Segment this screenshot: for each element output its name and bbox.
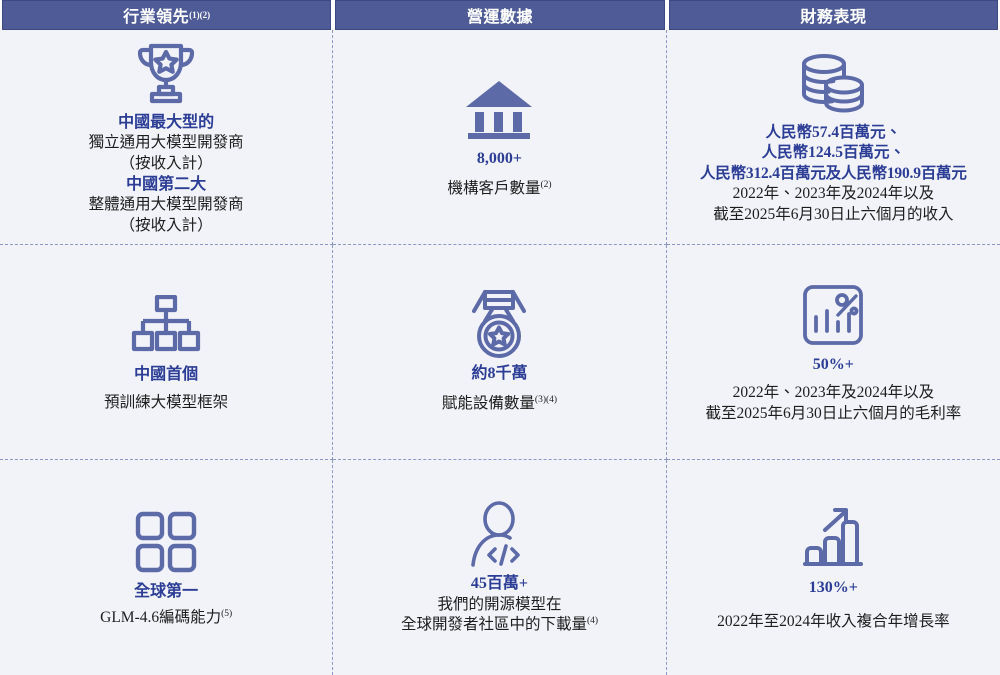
metrics-grid: 中國最大型的 獨立通用大模型開發商 （按收入計） 中國第二大 整體通用大模型開發…: [0, 30, 1000, 675]
metric-cell-enabled-devices: 約8千萬 賦能設備數量(3)(4): [333, 245, 666, 460]
trophy-star-icon: [132, 36, 200, 110]
column-header-footnote: (1)(2): [189, 10, 210, 20]
metric-highlight: 8,000+: [447, 148, 551, 169]
metric-footnote: (3)(4): [535, 395, 557, 405]
metric-description-line: （按收入計）: [89, 216, 244, 236]
metric-description-line: 2022年至2024年收入複合年增長率: [717, 612, 950, 632]
medal-star-icon: [467, 287, 531, 361]
column-header-label: 行業領先: [123, 3, 189, 27]
percent-chart-icon: [802, 278, 864, 352]
metric-description-line: 截至2025年6月30日止六個月的收入: [700, 205, 967, 225]
metric-description-line: 我們的開源模型在: [401, 595, 598, 615]
hierarchy-icon: [131, 288, 201, 362]
metric-description-line: 賦能設備數量: [442, 395, 535, 412]
metric-description-line: 獨立通用大模型開發商: [89, 133, 244, 153]
metric-description-line: 預訓練大模型框架: [104, 393, 228, 413]
metric-description-line: 2022年、2023年及2024年以及: [700, 184, 967, 204]
coins-stack-icon: [798, 47, 868, 121]
metric-description-line: 全球開發者社區中的下載量: [401, 616, 587, 633]
metric-cell-revenue-cagr: 130%+ 2022年至2024年收入複合年增長率: [667, 460, 1000, 675]
metric-highlight: 人民幣57.4百萬元、: [700, 123, 967, 143]
metric-highlight-secondary: 中國第二大: [89, 174, 244, 195]
grid-four-icon: [135, 505, 197, 579]
metric-description-line: 2022年、2023年及2024年以及: [705, 383, 961, 403]
metric-highlight-secondary: 人民幣124.5百萬元、: [700, 143, 967, 163]
metric-highlight: 約8千萬: [442, 363, 557, 384]
metric-description-line: （按收入計）: [89, 154, 244, 174]
growth-bar-chart-icon: [801, 501, 865, 575]
metric-description-line: 截至2025年6月30日止六個月的毛利率: [705, 404, 961, 424]
header-row: 行業領先(1)(2) 營運數據 財務表現: [0, 0, 1000, 30]
column-header-operating-data: 營運數據: [335, 0, 664, 30]
column-header-industry-leading: 行業領先(1)(2): [2, 0, 331, 30]
metric-highlight: 130%+: [717, 577, 950, 598]
metric-description-line: GLM-4.6編碼能力: [100, 609, 221, 626]
metric-cell-coding-ability: 全球第一 GLM-4.6編碼能力(5): [0, 460, 333, 675]
developer-code-icon: [468, 497, 530, 571]
metric-footnote: (2): [540, 180, 551, 190]
metric-cell-revenue: 人民幣57.4百萬元、 人民幣124.5百萬元、 人民幣312.4百萬元及人民幣…: [667, 30, 1000, 245]
metric-highlight-tertiary: 人民幣312.4百萬元及人民幣190.9百萬元: [700, 164, 967, 184]
column-header-financial-performance: 財務表現: [669, 0, 998, 30]
metric-description-line: 機構客戶數量: [447, 180, 540, 197]
metric-highlight: 中國首個: [104, 364, 228, 385]
metric-cell-downloads: 45百萬+ 我們的開源模型在 全球開發者社區中的下載量(4): [333, 460, 666, 675]
metric-cell-gross-margin: 50%+ 2022年、2023年及2024年以及 截至2025年6月30日止六個…: [667, 245, 1000, 460]
metric-cell-institutional-customers: 8,000+ 機構客戶數量(2): [333, 30, 666, 245]
metric-footnote: (4): [587, 616, 598, 626]
metric-cell-first-pretrained-framework: 中國首個 預訓練大模型框架: [0, 245, 333, 460]
highlights-board: 行業領先(1)(2) 營運數據 財務表現: [0, 0, 1000, 582]
column-header-label: 營運數據: [467, 3, 533, 27]
bank-building-icon: [464, 72, 534, 146]
metric-description-line: 整體通用大模型開發商: [89, 195, 244, 215]
metric-highlight: 全球第一: [100, 581, 232, 602]
metric-highlight: 50%+: [705, 354, 961, 375]
metric-footnote: (5): [221, 609, 232, 619]
column-header-label: 財務表現: [800, 3, 866, 27]
metric-cell-largest-independent-developer: 中國最大型的 獨立通用大模型開發商 （按收入計） 中國第二大 整體通用大模型開發…: [0, 30, 333, 245]
metric-highlight: 45百萬+: [401, 573, 598, 594]
metric-highlight: 中國最大型的: [89, 112, 244, 133]
